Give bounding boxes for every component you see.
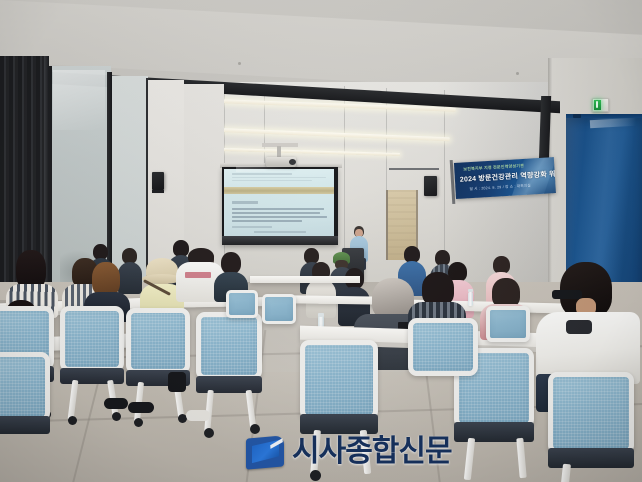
wall-speaker-left [152,172,164,190]
chair-backrest [226,290,258,318]
attendee-mid-1 [306,262,336,318]
wall-seam [444,90,445,270]
watermark: 시사종합신문 [246,428,416,476]
mesh-task-chair[interactable] [262,294,296,324]
mouse-or-device[interactable] [566,320,592,334]
chair-caster [204,428,214,438]
chair-seat [548,448,634,468]
shoe [128,402,154,413]
exit-running-man-icon [596,101,598,108]
projector-light-beam [236,166,296,172]
ceiling-rail [389,168,439,170]
chair-backrest [262,294,296,324]
slide-header-band [224,187,334,194]
banner-clip [573,114,581,118]
wall-speaker-right [424,176,437,196]
chair-caster [112,412,121,421]
mesh-task-chair[interactable] [0,352,50,422]
chair-mesh [201,317,257,375]
mesh-task-chair[interactable] [60,306,124,372]
chair-seat [0,416,50,434]
ceiling-sensor-dot [516,72,519,75]
chair-mesh [131,313,185,369]
water-bottle[interactable] [468,292,473,306]
mesh-task-chair[interactable] [486,306,530,342]
chair-seat [196,376,262,393]
chair-mesh [65,311,119,367]
chair-mesh [305,345,373,415]
screen-bottom-bar [222,236,338,245]
shoe [186,410,210,421]
chair-backrest [486,306,530,342]
mesh-task-chair[interactable] [548,372,634,454]
projector-lens-icon [289,159,296,165]
bottle-cap [318,313,324,317]
mesh-task-chair[interactable] [300,340,378,420]
mesh-task-chair[interactable] [408,318,478,376]
mesh-task-chair[interactable] [196,312,262,380]
wall-seam [344,86,345,266]
event-banner: 보건복지부 지정 전문인력양성기관 2024 방문건강관리 역량강화 워크숍 일… [454,157,556,199]
door-jamb [386,190,388,260]
seminar-room-photograph: 보건복지부 지정 전문인력양성기관 2024 방문건강관리 역량강화 워크숍 일… [0,0,642,482]
mesh-task-chair[interactable] [126,308,190,374]
chair-mesh [553,377,629,449]
open-book-logo-icon [246,434,286,470]
chair-mesh [0,357,45,417]
training-table [250,276,360,283]
bottle-cap [468,289,473,292]
bag [168,372,186,392]
wall-seam [386,88,387,193]
watermark-text: 시사종합신문 [292,437,452,467]
ceiling-sensor-dot [238,62,241,65]
projection-screen [224,169,334,236]
chair-mesh [413,323,473,371]
mesh-task-chair[interactable] [226,290,258,318]
speaker-bracket [152,190,164,193]
glass-highlight [53,70,105,130]
chair-caster [134,418,143,427]
shoe [104,398,128,409]
chair-seat [60,368,124,384]
chair-caster [68,416,77,425]
